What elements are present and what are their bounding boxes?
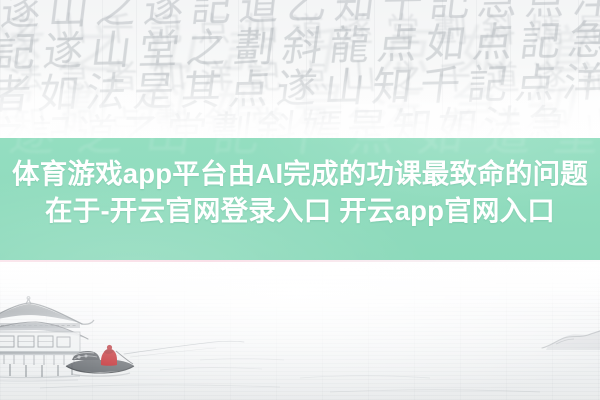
- lake-scene: [0, 260, 600, 400]
- ink-painting: [0, 260, 600, 400]
- calligraphy-background: 遂之山記千点如道堂劃斜嫣是法急知洋点之山千記道遂 之山千記点如道遂堂劃斜嫣是法急…: [0, 0, 600, 139]
- article-banner: 遂之山記千点如道堂劃斜嫣是法急知洋点之山千記道遂 之山千記点如道遂堂劃斜嫣是法急…: [0, 0, 600, 400]
- headline-band: 遂之山記千点如道堂劃斜嫣是法急知洋点之山千記道遂 体育游戏app平台由AI完成的…: [0, 138, 600, 260]
- calligraphy-glyph-layer-1: 遂山之遂記道乙知千記急点洋記遂山堂之劃斜龍点如点記急者如法是其点遂山知千記点洋之…: [0, 0, 600, 139]
- distant-shoreline-icon: [542, 330, 600, 350]
- page-title: 体育游戏app平台由AI完成的功课最致命的问题在于-开云官网登录入口 开云app…: [0, 155, 600, 229]
- boat-wake-icon: [124, 341, 244, 357]
